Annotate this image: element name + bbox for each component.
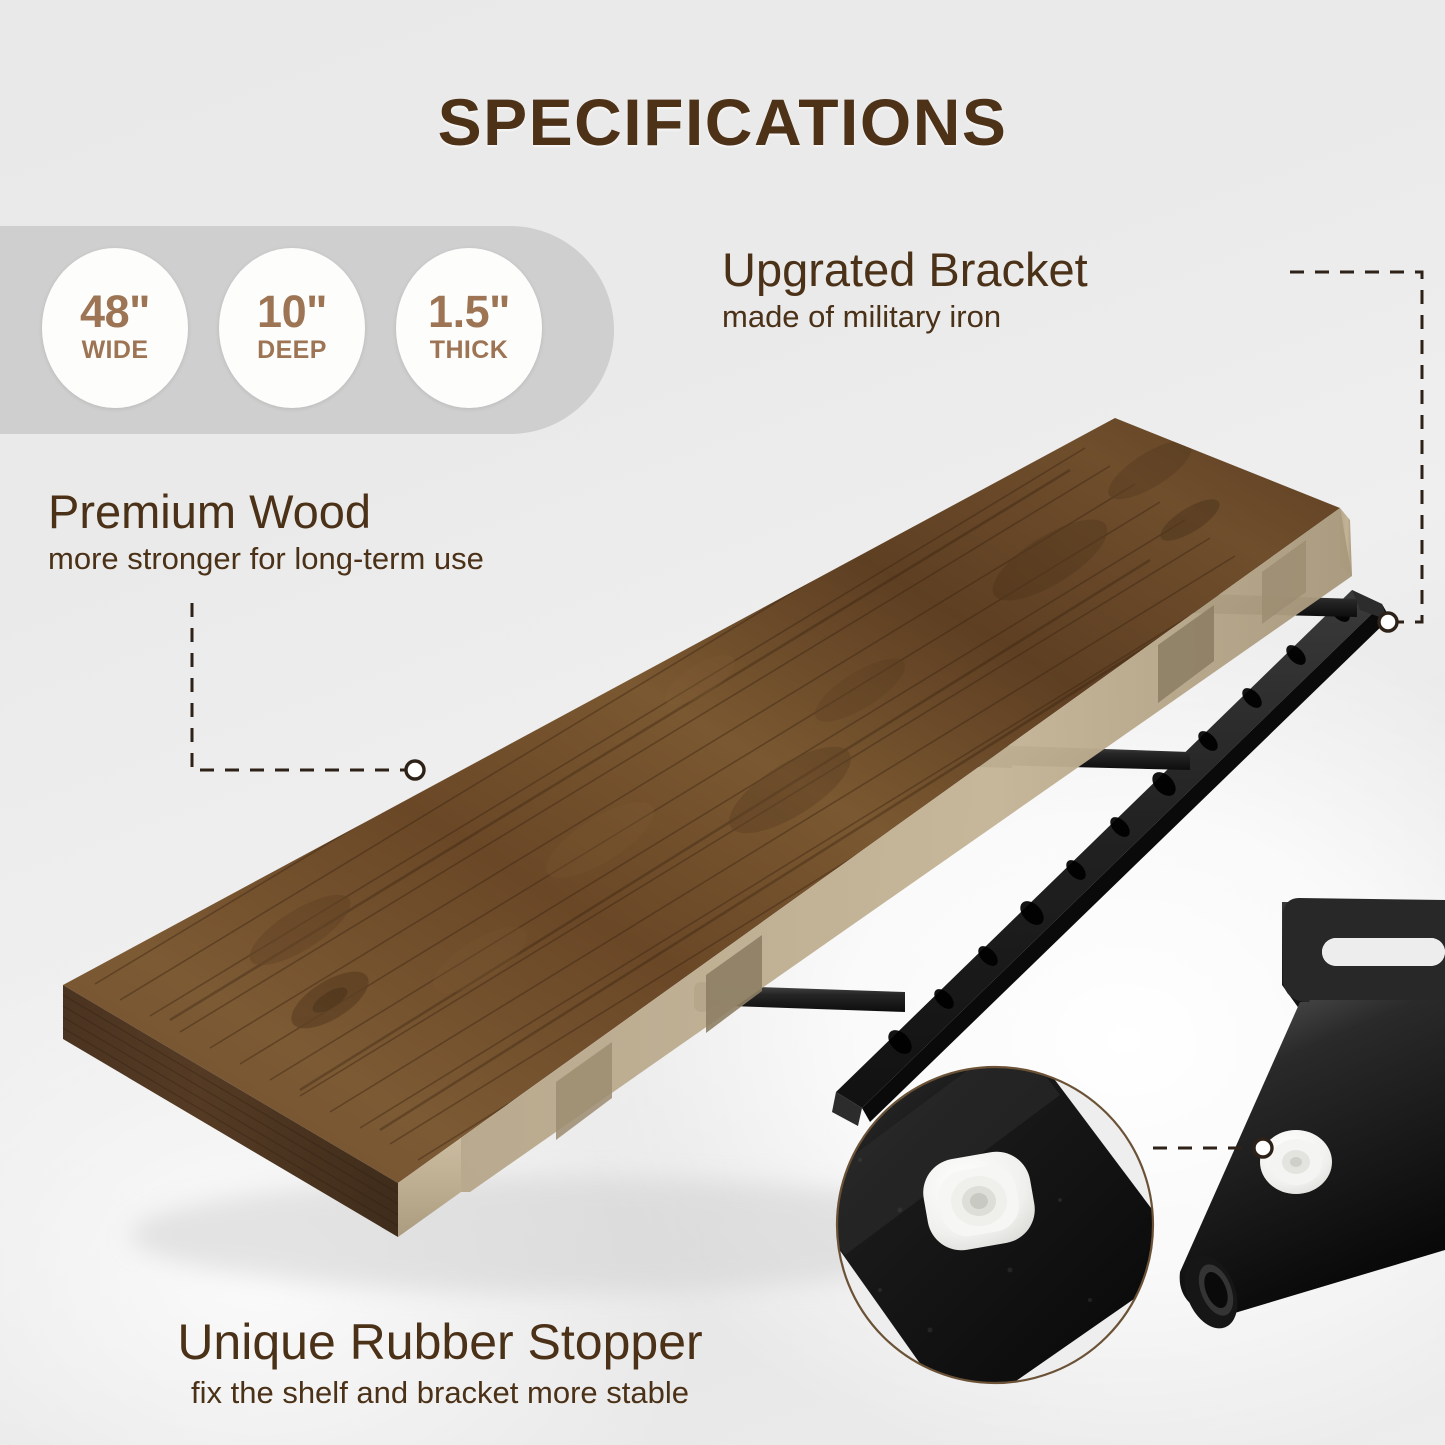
callout-wood-title: Premium Wood (48, 487, 484, 536)
connector-wood (192, 603, 405, 770)
page-title: SPECIFICATIONS (0, 84, 1445, 160)
specifications-infographic: SPECIFICATIONS 48" WIDE 10" DEEP 1.5" TH… (0, 0, 1445, 1445)
callout-bracket-title: Upgrated Bracket (722, 245, 1088, 294)
badge-width: 48" WIDE (42, 248, 188, 408)
callout-bracket-subtitle: made of military iron (722, 299, 1088, 335)
badge-width-label: WIDE (82, 336, 149, 365)
bracket-closeup (1175, 898, 1445, 1336)
badge-depth-label: DEEP (257, 336, 327, 365)
badge-thickness: 1.5" THICK (396, 248, 542, 408)
rubber-stopper-main (1260, 1130, 1332, 1194)
badge-thickness-value: 1.5" (428, 291, 510, 334)
badge-depth: 10" DEEP (219, 248, 365, 408)
callout-stopper-subtitle: fix the shelf and bracket more stable (0, 1375, 880, 1411)
callout-stopper: Unique Rubber Stopper fix the shelf and … (0, 1316, 880, 1411)
product-illustration (0, 0, 1445, 1445)
badge-depth-value: 10" (257, 291, 327, 334)
badge-thickness-label: THICK (430, 336, 508, 365)
circle-marker-bracket (1379, 613, 1397, 631)
callout-bracket: Upgrated Bracket made of military iron (722, 245, 1088, 335)
circle-marker-wood (406, 761, 424, 779)
callout-stopper-title: Unique Rubber Stopper (0, 1316, 880, 1369)
callout-wood-subtitle: more stronger for long-term use (48, 541, 484, 577)
callout-wood: Premium Wood more stronger for long-term… (48, 487, 484, 577)
circle-marker-stopper (1254, 1139, 1272, 1157)
badge-width-value: 48" (80, 291, 150, 334)
